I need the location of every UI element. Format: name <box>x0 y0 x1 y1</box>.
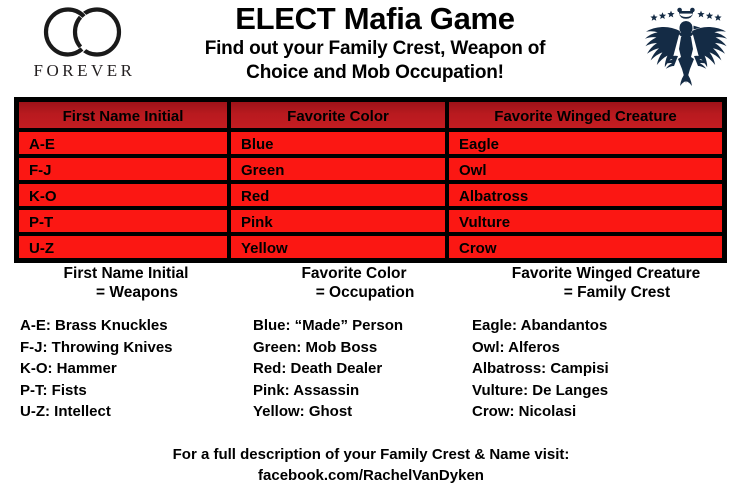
attributes-table: First Name Initial Favorite Color Favori… <box>14 97 727 263</box>
eagle-crest-logo <box>638 4 734 90</box>
legend-column-family-crest: Favorite Winged Creature = Family Crest … <box>462 264 742 423</box>
legend-items: Eagle: Abandantos Owl: Alferos Albatross… <box>470 315 742 423</box>
list-item: P-T: Fists <box>20 380 236 402</box>
page-title: ELECT Mafia Game <box>150 2 600 36</box>
heraldic-eagle-crest-icon <box>638 4 734 90</box>
table-cell-initial: P-T <box>17 208 229 234</box>
table-cell-creature: Albatross <box>447 182 724 208</box>
table-header-cell-favorite-color: Favorite Color <box>229 100 447 130</box>
table-cell-creature: Vulture <box>447 208 724 234</box>
page-subtitle-line-1: Find out your Family Crest, Weapon of <box>150 37 600 60</box>
legend-heading-line-2: = Family Crest <box>470 283 742 302</box>
legend-items: A-E: Brass Knuckles F-J: Throwing Knives… <box>16 315 236 423</box>
list-item: Blue: “Made” Person <box>253 315 462 337</box>
legend-heading-line-2: = Weapons <box>16 283 236 302</box>
list-item: F-J: Throwing Knives <box>20 337 236 359</box>
table-row: K-O Red Albatross <box>17 182 724 208</box>
table-row: F-J Green Owl <box>17 156 724 182</box>
legend-items: Blue: “Made” Person Green: Mob Boss Red:… <box>246 315 462 423</box>
table-cell-color: Yellow <box>229 234 447 260</box>
page-header: FOREVER ELECT Mafia Game Find out your F… <box>0 0 742 92</box>
list-item: Yellow: Ghost <box>253 401 462 423</box>
page-footer: For a full description of your Family Cr… <box>0 444 742 486</box>
title-block: ELECT Mafia Game Find out your Family Cr… <box>150 2 600 84</box>
legend-heading-line-1: Favorite Winged Creature <box>470 264 742 283</box>
table-row: A-E Blue Eagle <box>17 130 724 156</box>
list-item: Green: Mob Boss <box>253 337 462 359</box>
list-item: U-Z: Intellect <box>20 401 236 423</box>
list-item: K-O: Hammer <box>20 358 236 380</box>
list-item: Eagle: Abandantos <box>472 315 742 337</box>
table-cell-color: Blue <box>229 130 447 156</box>
table-cell-creature: Owl <box>447 156 724 182</box>
list-item: Pink: Assassin <box>253 380 462 402</box>
list-item: Red: Death Dealer <box>253 358 462 380</box>
table-cell-initial: A-E <box>17 130 229 156</box>
table-cell-initial: F-J <box>17 156 229 182</box>
list-item: Owl: Alferos <box>472 337 742 359</box>
table-row: U-Z Yellow Crow <box>17 234 724 260</box>
table-cell-color: Pink <box>229 208 447 234</box>
footer-description: For a full description of your Family Cr… <box>0 444 742 465</box>
table-header-row: First Name Initial Favorite Color Favori… <box>17 100 724 130</box>
legend-section: First Name Initial = Weapons A-E: Brass … <box>0 264 742 423</box>
list-item: Albatross: Campisi <box>472 358 742 380</box>
legend-heading-line-1: First Name Initial <box>16 264 236 283</box>
footer-facebook-link[interactable]: facebook.com/RachelVanDyken <box>0 465 742 486</box>
legend-heading-line-2: = Occupation <box>246 283 462 302</box>
table-cell-creature: Eagle <box>447 130 724 156</box>
table-header-cell-favorite-winged-creature: Favorite Winged Creature <box>447 100 724 130</box>
table-cell-initial: U-Z <box>17 234 229 260</box>
table-header-cell-first-name-initial: First Name Initial <box>17 100 229 130</box>
page-subtitle-line-2: Choice and Mob Occupation! <box>150 61 600 84</box>
table-cell-color: Red <box>229 182 447 208</box>
forever-logo: FOREVER <box>18 4 148 90</box>
legend-heading-line-1: Favorite Color <box>246 264 462 283</box>
list-item: A-E: Brass Knuckles <box>20 315 236 337</box>
table-cell-color: Green <box>229 156 447 182</box>
table-cell-initial: K-O <box>17 182 229 208</box>
table-cell-creature: Crow <box>447 234 724 260</box>
table-row: P-T Pink Vulture <box>17 208 724 234</box>
legend-column-weapons: First Name Initial = Weapons A-E: Brass … <box>0 264 236 423</box>
list-item: Crow: Nicolasi <box>472 401 742 423</box>
list-item: Vulture: De Langes <box>472 380 742 402</box>
legend-column-occupation: Favorite Color = Occupation Blue: “Made”… <box>236 264 462 423</box>
interlocking-rings-logo-icon <box>18 4 148 60</box>
forever-wordmark: FOREVER <box>18 61 148 81</box>
